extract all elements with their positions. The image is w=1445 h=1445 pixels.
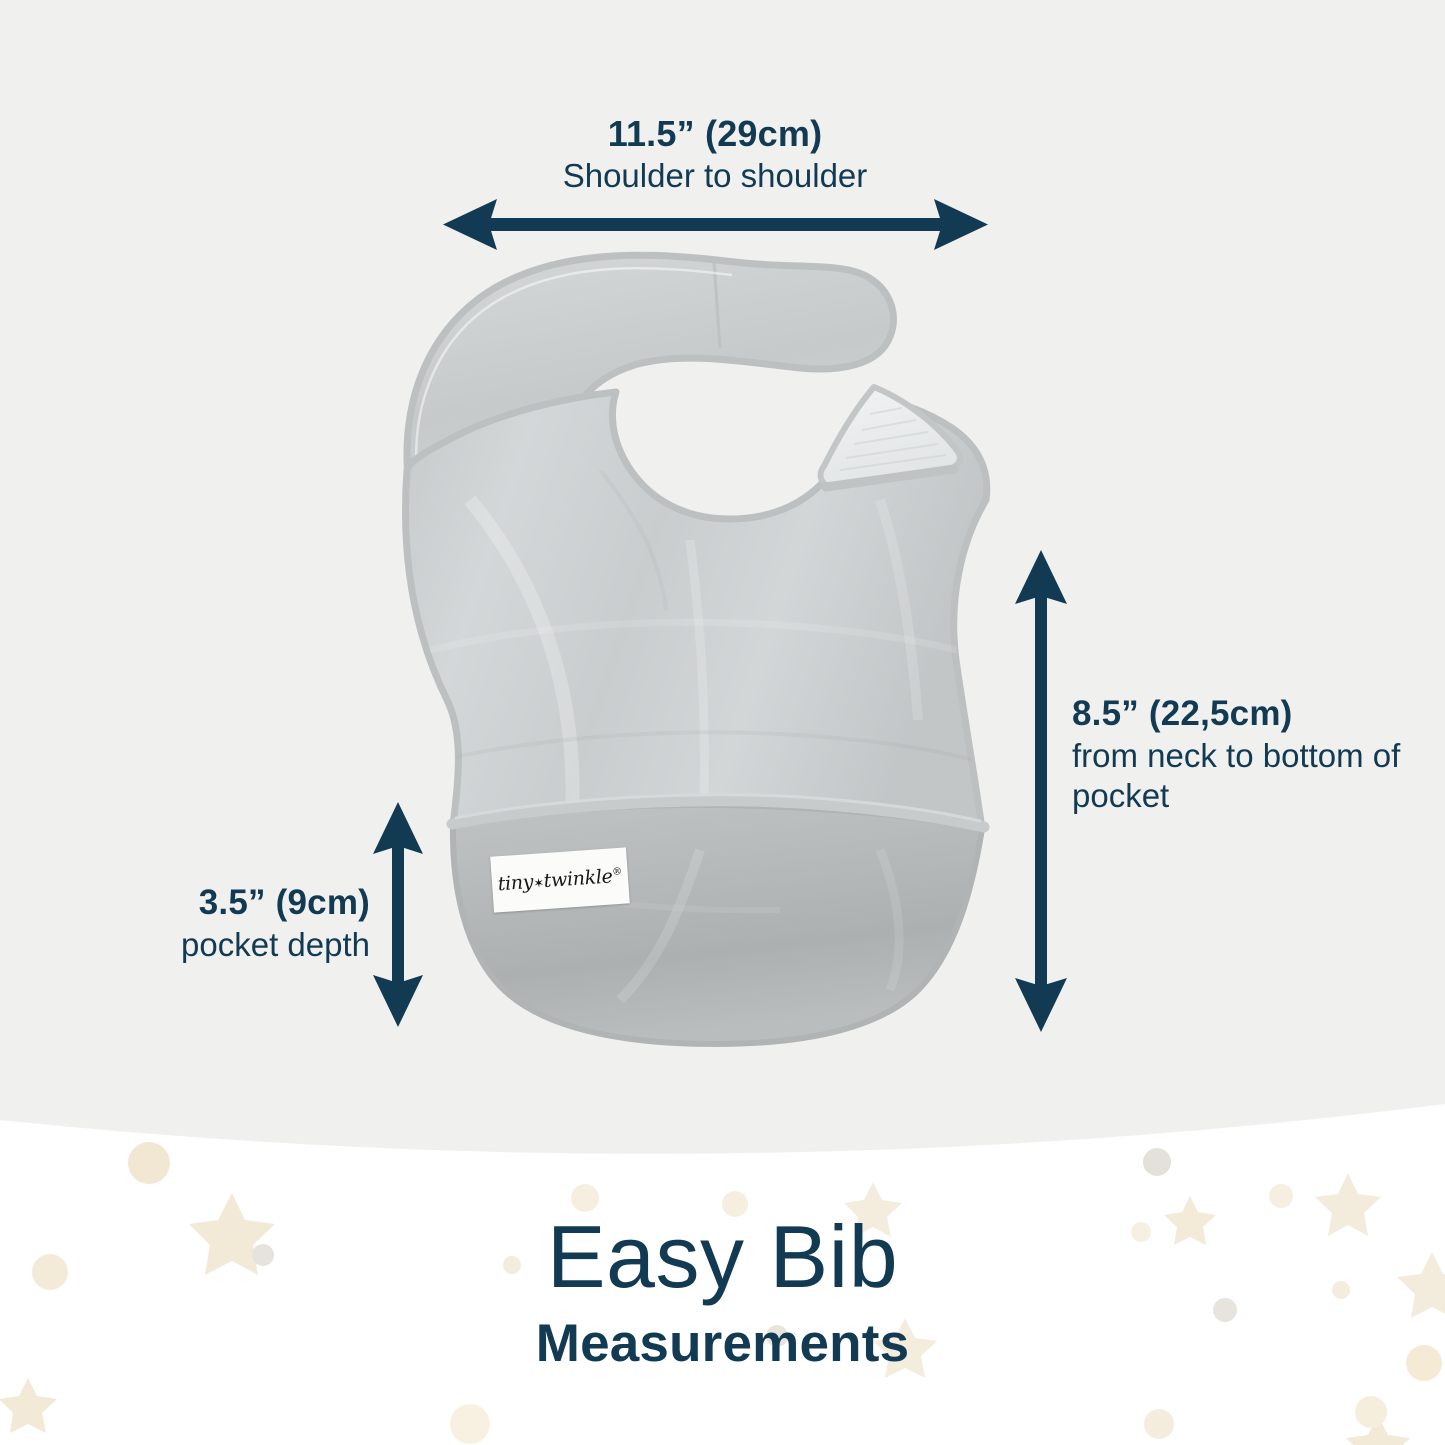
page-title: Easy Bib — [0, 1213, 1445, 1301]
measurement-description-pocket-depth: pocket depth — [60, 925, 370, 965]
measurement-value-neck-to-pocket: 8.5” (22,5cm) — [1072, 693, 1412, 736]
measurement-value-pocket-depth: 3.5” (9cm) — [60, 882, 370, 925]
arrow-neck-to-pocket — [1015, 550, 1067, 1032]
page-subtitle: Measurements — [0, 1317, 1445, 1370]
measurement-label-pocket-depth: 3.5” (9cm) pocket depth — [60, 882, 370, 965]
measurement-label-shoulder: 11.5” (29cm) Shoulder to shoulder — [380, 112, 1050, 196]
bib-velcro-tab — [821, 387, 960, 487]
title-block: Easy Bib Measurements — [0, 1213, 1445, 1370]
confetti-dot — [1144, 1409, 1174, 1439]
confetti-dot — [1143, 1148, 1171, 1176]
brand-name-first: tiny — [497, 871, 534, 895]
confetti-dot — [1355, 1396, 1387, 1428]
confetti-dot — [1269, 1184, 1293, 1208]
arrow-pocket-depth — [373, 802, 423, 1027]
brand-tag-label: tiny✶twinkle® — [497, 865, 623, 896]
confetti-dot — [128, 1142, 170, 1184]
confetti-dot — [450, 1404, 490, 1444]
arrow-shoulder-to-shoulder — [443, 199, 988, 250]
measurement-description-shoulder: Shoulder to shoulder — [380, 156, 1050, 196]
bib-pocket — [452, 795, 984, 1044]
measurement-value-shoulder: 11.5” (29cm) — [380, 112, 1050, 156]
brand-name-second: twinkle — [543, 865, 613, 892]
brand-tag: tiny✶twinkle® — [490, 847, 630, 912]
measurement-description-neck-to-pocket: from neck to bottom of pocket — [1072, 737, 1400, 814]
measurement-label-neck-to-pocket: 8.5” (22,5cm) from neck to bottom of poc… — [1072, 693, 1412, 816]
infographic-canvas: tiny✶twinkle® 11.5” (29cm) Shoulder to s… — [0, 0, 1445, 1445]
registered-mark: ® — [612, 866, 622, 878]
